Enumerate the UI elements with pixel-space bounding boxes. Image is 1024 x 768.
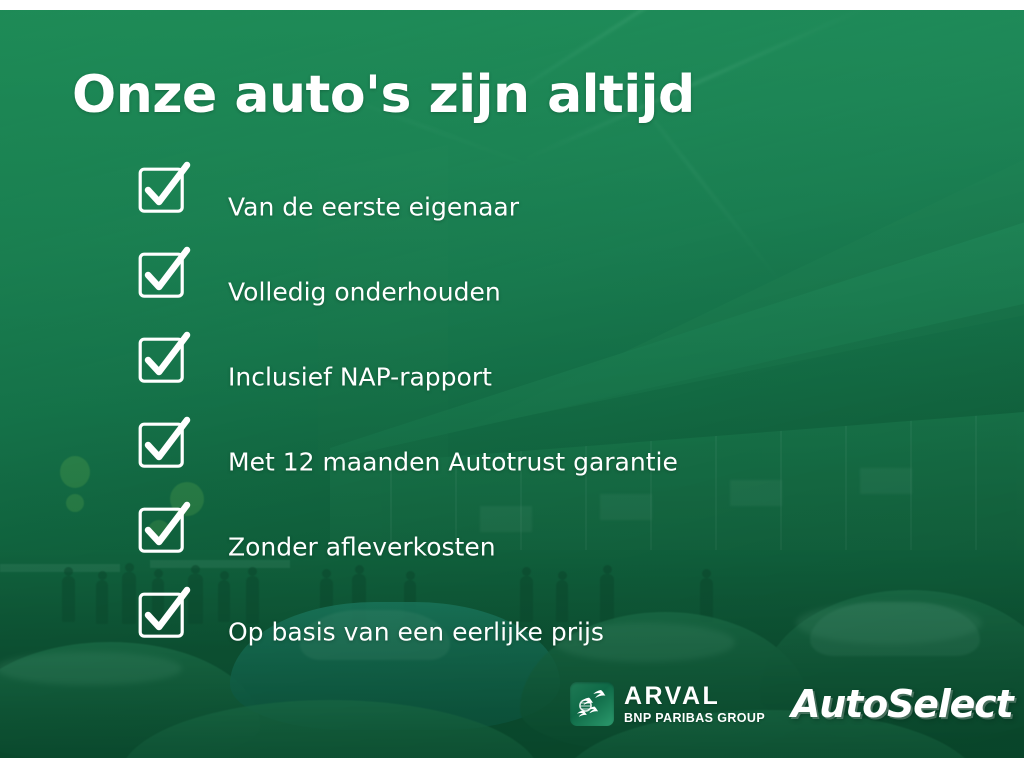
list-item-label: Zonder afleverkosten: [228, 532, 496, 561]
arval-subtitle: BNP PARIBAS GROUP: [624, 712, 765, 725]
arval-logo: ARVAL BNP PARIBAS GROUP: [570, 682, 765, 726]
list-item-label: Van de eerste eigenaar: [228, 192, 519, 221]
bottom-white-margin: [0, 758, 1024, 768]
arval-name: ARVAL: [624, 684, 765, 709]
arval-wordmark: ARVAL BNP PARIBAS GROUP: [624, 684, 765, 725]
list-item-label: Inclusief NAP-rapport: [228, 362, 492, 391]
top-white-margin: [0, 0, 1024, 10]
checkbox-checked-icon: [138, 419, 190, 469]
logo-strip: ARVAL BNP PARIBAS GROUP AutoSelect: [570, 682, 1012, 726]
checkbox-checked-icon: [138, 249, 190, 299]
slide-canvas: Onze auto's zijn altijd Van de eerste ei…: [0, 0, 1024, 768]
checkbox-checked-icon: [138, 164, 190, 214]
list-item-label: Volledig onderhouden: [228, 277, 501, 306]
list-item-label: Met 12 maanden Autotrust garantie: [228, 447, 678, 476]
page-title: Onze auto's zijn altijd: [72, 68, 695, 123]
checkbox-checked-icon: [138, 334, 190, 384]
list-item-label: Op basis van een eerlijke prijs: [228, 617, 604, 646]
checkbox-checked-icon: [138, 504, 190, 554]
slide-content: Onze auto's zijn altijd Van de eerste ei…: [0, 0, 1024, 768]
checkbox-checked-icon: [138, 589, 190, 639]
bnp-paribas-stars-icon: [570, 682, 614, 726]
autoselect-logo: AutoSelect: [791, 682, 1012, 726]
